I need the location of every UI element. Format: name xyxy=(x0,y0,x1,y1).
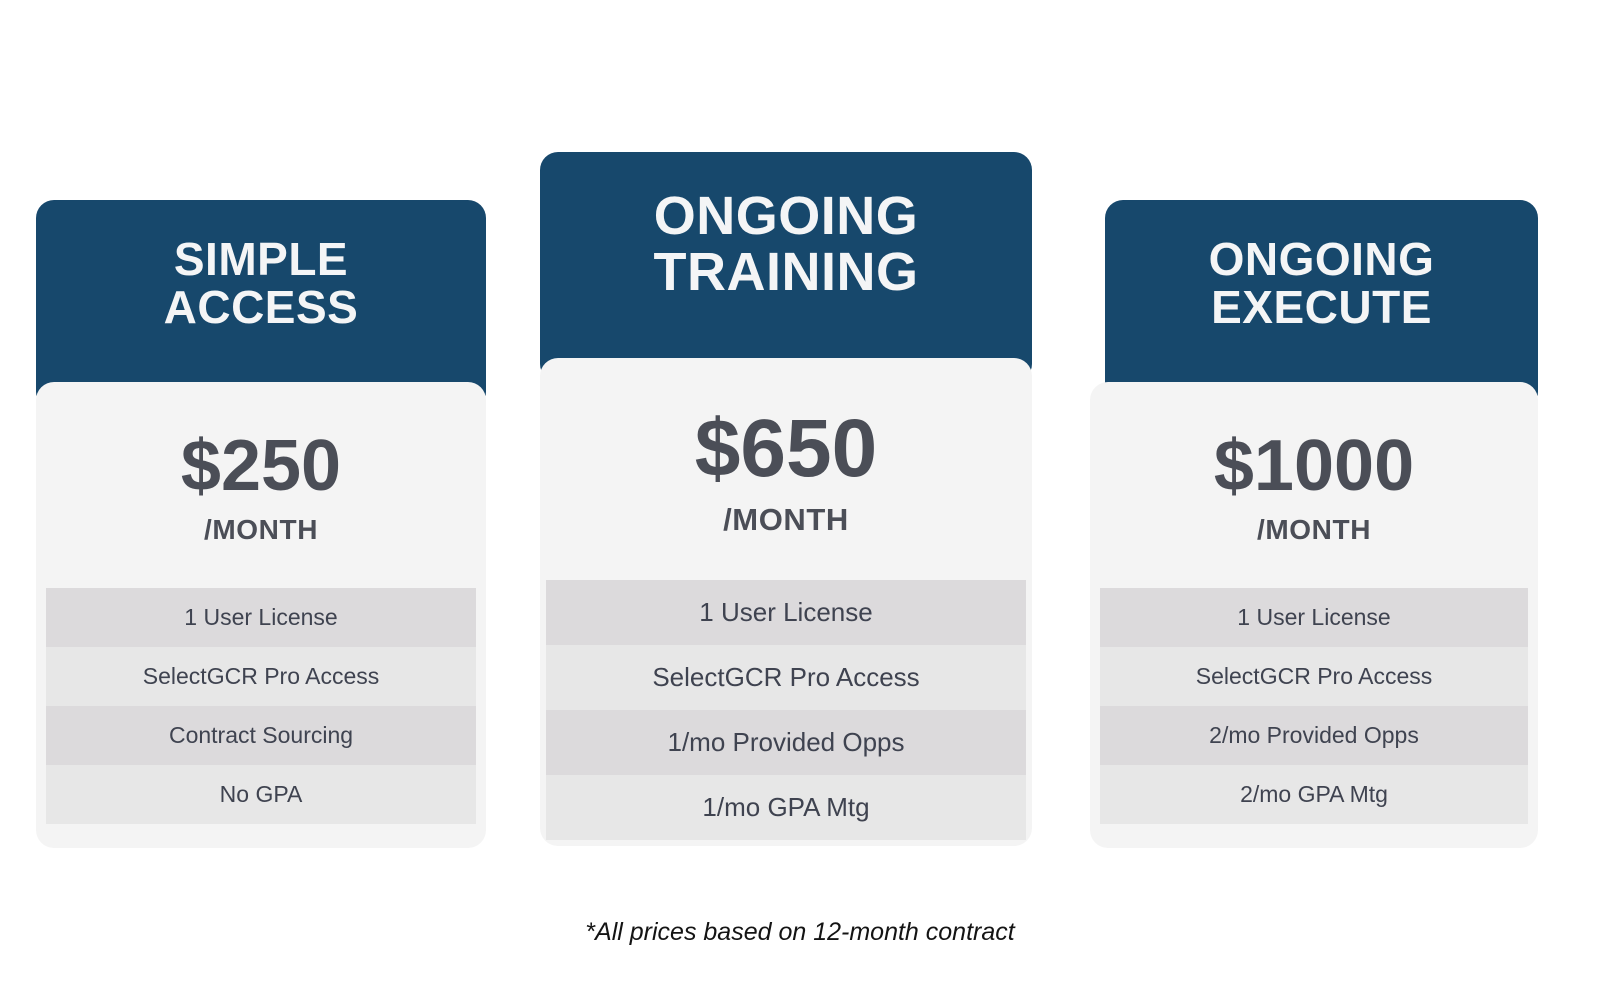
card-body-ongoing-execute: $1000 /MONTH 1 User License SelectGCR Pr… xyxy=(1090,382,1538,848)
pricing-footnote: *All prices based on 12-month contract xyxy=(0,918,1600,947)
feature-row: SelectGCR Pro Access xyxy=(1100,647,1528,706)
feature-row: 2/mo Provided Opps xyxy=(1100,706,1528,765)
plan-title: ONGOING EXECUTE xyxy=(1209,200,1435,332)
card-header-simple-access: SIMPLE ACCESS xyxy=(36,200,486,410)
feature-list: 1 User License SelectGCR Pro Access 2/mo… xyxy=(1090,588,1538,824)
feature-row: 1 User License xyxy=(46,588,476,647)
feature-row: 2/mo GPA Mtg xyxy=(1100,765,1528,824)
feature-row: 1 User License xyxy=(546,580,1026,645)
pricing-card-simple-access[interactable]: SIMPLE ACCESS $250 /MONTH 1 User License… xyxy=(36,200,486,848)
plan-title: SIMPLE ACCESS xyxy=(164,200,359,332)
pricing-card-ongoing-execute[interactable]: ONGOING EXECUTE $1000 /MONTH 1 User Lice… xyxy=(1090,200,1538,848)
feature-row: Contract Sourcing xyxy=(46,706,476,765)
plan-price: $250 xyxy=(181,430,341,502)
card-body-ongoing-training: $650 /MONTH 1 User License SelectGCR Pro… xyxy=(540,358,1032,846)
feature-list: 1 User License SelectGCR Pro Access Cont… xyxy=(36,588,486,824)
plan-period: /MONTH xyxy=(204,514,318,546)
feature-row: SelectGCR Pro Access xyxy=(46,647,476,706)
feature-list: 1 User License SelectGCR Pro Access 1/mo… xyxy=(540,580,1032,840)
plan-price: $1000 xyxy=(1214,430,1414,502)
pricing-table: SIMPLE ACCESS $250 /MONTH 1 User License… xyxy=(0,0,1600,1000)
card-header-ongoing-training: ONGOING TRAINING xyxy=(540,152,1032,382)
plan-title: ONGOING TRAINING xyxy=(654,152,919,300)
feature-row: No GPA xyxy=(46,765,476,824)
feature-row: 1 User License xyxy=(1100,588,1528,647)
card-body-simple-access: $250 /MONTH 1 User License SelectGCR Pro… xyxy=(36,382,486,848)
plan-price: $650 xyxy=(695,408,877,490)
feature-row: 1/mo GPA Mtg xyxy=(546,775,1026,840)
pricing-card-ongoing-training[interactable]: ONGOING TRAINING $650 /MONTH 1 User Lice… xyxy=(540,152,1032,846)
feature-row: SelectGCR Pro Access xyxy=(546,645,1026,710)
feature-row: 1/mo Provided Opps xyxy=(546,710,1026,775)
plan-period: /MONTH xyxy=(1257,514,1371,546)
plan-period: /MONTH xyxy=(723,502,849,538)
card-header-ongoing-execute: ONGOING EXECUTE xyxy=(1105,200,1538,410)
